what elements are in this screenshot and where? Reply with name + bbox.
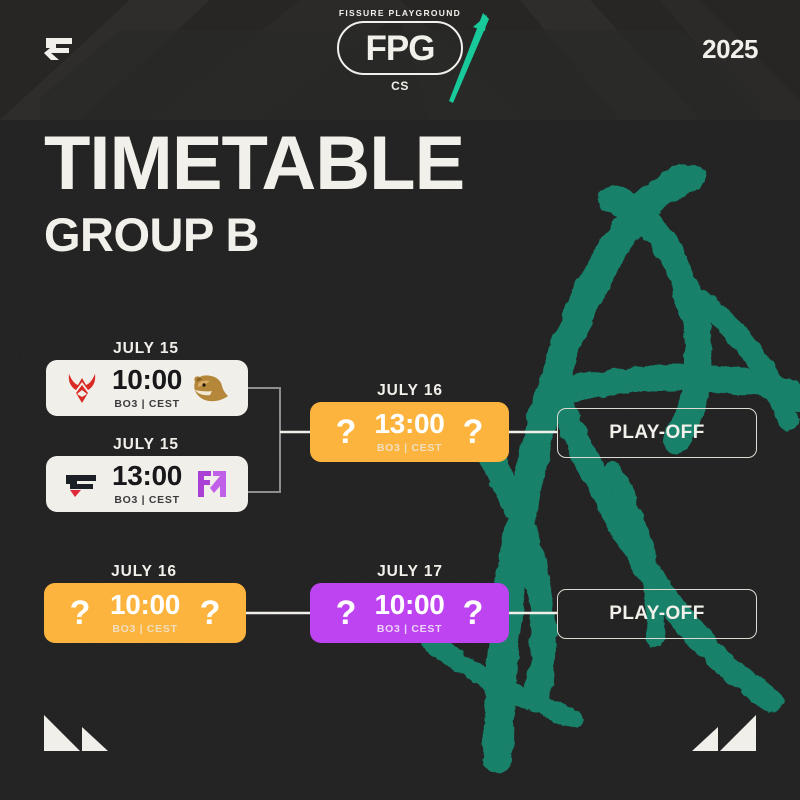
slot-placeholder-right-decider: ? [463,596,484,630]
question-mark-icon: ? [447,583,499,643]
slot-placeholder-right-losers-round: ? [200,596,221,630]
question-mark-icon: ? [320,402,372,462]
date-label-winners-final: JULY 16 [310,382,510,400]
match-meta-winners-final: BO3 | CEST [377,442,442,454]
playoff-lower-label: PLAY-OFF [609,603,704,625]
bracket: JULY 15 JULY 15 JULY 16 JULY 16 JULY 17 … [0,0,800,800]
date-label-losers-round: JULY 16 [44,563,244,581]
timetable-poster: FISSURE PLAYGROUND FPG CS 2025 TIMETABLE… [0,0,800,800]
question-mark-icon: ? [320,583,372,643]
date-label-decider: JULY 17 [310,563,510,581]
slot-placeholder-right-winners-final: ? [463,415,484,449]
match-time-winners-final: 13:00 [374,410,444,438]
date-label-sf2: JULY 15 [46,436,246,454]
pain-gaming-icon [56,456,108,512]
match-center-winners-final: 13:00 BO3 | CEST [372,410,447,454]
match-meta-losers-round: BO3 | CEST [112,623,177,635]
match-center-losers-round: 10:00 BO3 | CEST [106,591,184,635]
match-center-sf2: 13:00 BO3 | CEST [108,462,186,506]
match-card-winners-final[interactable]: ? 13:00 BO3 | CEST ? [310,402,509,462]
playoff-lower-button[interactable]: PLAY-OFF [557,589,757,639]
playoff-upper-label: PLAY-OFF [609,422,704,444]
double-triangle-down-icon [42,713,114,758]
slot-placeholder-left-winners-final: ? [336,415,357,449]
match-time-decider: 10:00 [374,591,444,619]
slot-placeholder-left-losers-round: ? [70,596,91,630]
match-time-sf1: 10:00 [112,366,182,394]
metizport-horns-icon [56,360,108,416]
question-mark-icon: ? [447,402,499,462]
question-mark-icon: ? [54,583,106,643]
match-time-sf2: 13:00 [112,462,182,490]
match-card-losers-round[interactable]: ? 10:00 BO3 | CEST ? [44,583,246,643]
match-meta-sf2: BO3 | CEST [114,494,179,506]
double-triangle-up-icon [686,713,758,758]
match-card-decider[interactable]: ? 10:00 BO3 | CEST ? [310,583,509,643]
date-label-sf1: JULY 15 [46,340,246,358]
match-card-sf1[interactable]: 10:00 BO3 | CEST [46,360,248,416]
match-center-sf1: 10:00 BO3 | CEST [108,366,186,410]
playoff-upper-button[interactable]: PLAY-OFF [557,408,757,458]
match-meta-decider: BO3 | CEST [377,623,442,635]
question-mark-icon: ? [184,583,236,643]
match-meta-sf1: BO3 | CEST [114,398,179,410]
slot-placeholder-left-decider: ? [336,596,357,630]
bear-head-icon [186,360,238,416]
purple-fg-icon [186,456,238,512]
match-time-losers-round: 10:00 [110,591,180,619]
match-card-sf2[interactable]: 13:00 BO3 | CEST [46,456,248,512]
match-center-decider: 10:00 BO3 | CEST [372,591,447,635]
